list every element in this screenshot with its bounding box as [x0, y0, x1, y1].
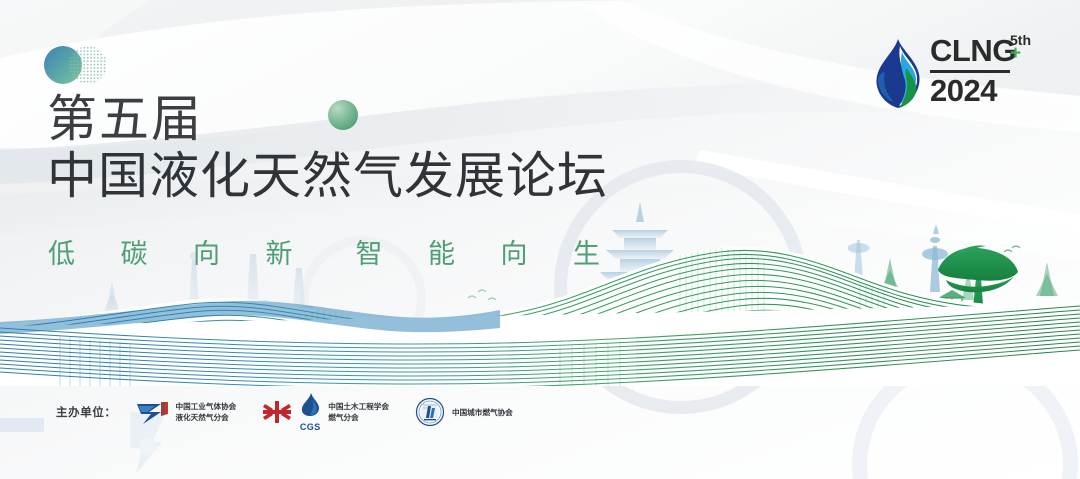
- sponsors-label: 主办单位：: [56, 404, 117, 420]
- conference-banner: 第五届 中国液化天然气发展论坛 低 碳 向 新智 能 向 生 CLNG 2024…: [0, 0, 1080, 479]
- subtitle-part-2: 智 能 向 生: [356, 239, 620, 269]
- sponsor-name-line-2: 液化天然气分会: [176, 412, 237, 423]
- birds-center: [468, 290, 496, 300]
- sponsor-name-line-1: 中国工业气体协会: [176, 401, 237, 412]
- sponsor-item[interactable]: CGS 中国土木工程学会 燃气分会: [262, 392, 389, 432]
- dotted-circle-icon: [69, 46, 107, 84]
- cgs-letters: CGS: [299, 422, 321, 432]
- sponsor-name-line-1: 中国城市燃气协会: [452, 407, 513, 418]
- logo-plus-icon: +: [1010, 47, 1021, 61]
- sponsor-name: 中国土木工程学会 燃气分会: [328, 401, 389, 423]
- logo-year: 2024: [930, 74, 1048, 108]
- subtitle-part-1: 低 碳 向 新: [48, 239, 312, 269]
- cces-logo-icon: [262, 399, 292, 425]
- cgs-flame-icon: [299, 392, 321, 416]
- sponsor-item[interactable]: 中国工业气体协会 液化天然气分会: [135, 398, 237, 426]
- sponsor-item[interactable]: 中国城市燃气协会: [415, 397, 513, 427]
- sponsor-name: 中国工业气体协会 液化天然气分会: [176, 401, 237, 423]
- sponsor-name-line-1: 中国土木工程学会: [328, 401, 389, 412]
- sponsor-name: 中国城市燃气协会: [452, 407, 513, 418]
- subtitle: 低 碳 向 新智 能 向 生: [48, 232, 619, 271]
- sponsor-name-line-2: 燃气分会: [328, 412, 389, 423]
- cnia-lng-logo-icon: [135, 398, 169, 426]
- sponsors-row: 主办单位： 中国工业气体协会 液化天然气分会: [56, 392, 539, 432]
- birds: [1004, 246, 1020, 252]
- landscape-artwork: [0, 196, 1080, 386]
- cces-cgs-marks: CGS: [262, 392, 328, 432]
- flame-droplet-icon: [872, 38, 924, 112]
- headline-line-2: 中国液化天然气发展论坛: [47, 146, 667, 207]
- clng-logo: CLNG 2024 5th +: [872, 34, 1044, 120]
- china-gas-association-seal-icon: [415, 397, 445, 427]
- gradient-and-dotted-circles: [44, 46, 124, 86]
- clng-wordmark: CLNG 2024 5th +: [930, 34, 1048, 120]
- green-gradient-dot: [328, 100, 358, 130]
